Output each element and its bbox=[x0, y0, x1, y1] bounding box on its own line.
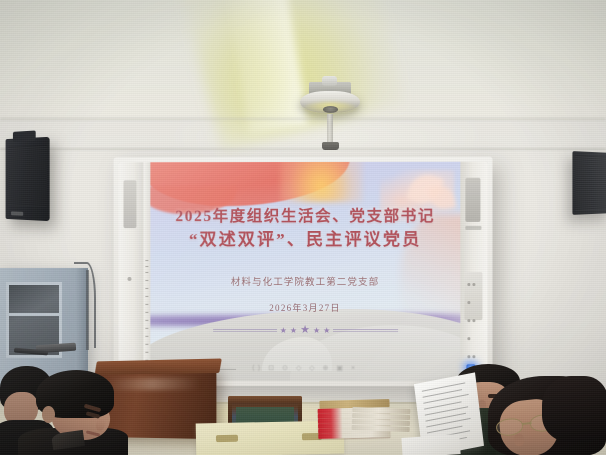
star-icon: ★ bbox=[280, 326, 287, 334]
printed-handout-secondary bbox=[401, 434, 460, 455]
keypad-button[interactable] bbox=[467, 319, 470, 322]
slide-organization: 材料与化工学院教工第二党支部 bbox=[231, 274, 379, 288]
ceiling-mounted-projector bbox=[300, 82, 360, 116]
speaker-grille bbox=[8, 145, 46, 206]
keypad-button[interactable] bbox=[467, 355, 470, 358]
attendee-left-front bbox=[22, 370, 142, 455]
hanging-cable bbox=[74, 262, 96, 348]
projector-pole-cap bbox=[322, 142, 339, 150]
hanging-cable-secondary bbox=[86, 270, 89, 350]
bezel-label bbox=[465, 226, 481, 230]
keypad-button[interactable] bbox=[472, 355, 475, 358]
slide-title-line-2: “双述双评”、民主评议党员 bbox=[175, 229, 435, 250]
person-nose bbox=[513, 434, 524, 447]
person-ear bbox=[42, 406, 55, 423]
star-icon: ★ bbox=[290, 326, 297, 334]
speaker-grille bbox=[575, 155, 606, 210]
speaker-bracket-icon bbox=[13, 130, 36, 141]
slide-text-block: 2025年度组织生活会、党支部书记 “双述双评”、民主评议党员 材料与化工学院教… bbox=[150, 162, 460, 382]
bezel-grille bbox=[465, 178, 480, 222]
divider-rule-right bbox=[333, 328, 397, 333]
slide-title: 2025年度组织生活会、党支部书记 “双述双评”、民主评议党员 bbox=[175, 206, 435, 250]
divider-rule-left bbox=[213, 328, 277, 333]
projector-mount-neck bbox=[322, 76, 337, 86]
bezel-sensor-icon bbox=[127, 277, 131, 281]
left-bezel-speaker-grille bbox=[119, 162, 144, 380]
screen-left-strip bbox=[143, 162, 150, 381]
wall-speaker-left bbox=[6, 137, 50, 221]
keypad-button[interactable] bbox=[472, 283, 475, 286]
whiteboard-inner: 2025年度组织生活会、党支部书记 “双述双评”、民主评议党员 材料与化工学院教… bbox=[119, 162, 488, 382]
keypad-button[interactable] bbox=[467, 301, 470, 304]
interactive-whiteboard[interactable]: 2025年度组织生活会、党支部书记 “双述双评”、民主评议党员 材料与化工学院教… bbox=[114, 157, 493, 387]
meeting-room-photo: 2025年度组织生活会、党支部书记 “双述双评”、民主评议党员 材料与化工学院教… bbox=[0, 0, 606, 455]
chair-top-rail bbox=[228, 396, 302, 403]
slide-date: 2026年3月27日 bbox=[269, 301, 341, 314]
document-marking bbox=[216, 435, 238, 442]
stacked-white-papers bbox=[351, 403, 410, 435]
star-icon-center: ★ bbox=[300, 325, 310, 336]
keypad-button[interactable] bbox=[467, 283, 470, 286]
bezel-grille bbox=[124, 180, 137, 228]
wall-seam bbox=[0, 148, 606, 150]
slide-star-divider: ★ ★ ★ ★ ★ bbox=[213, 325, 398, 336]
projected-slide: 2025年度组织生活会、党支部书记 “双述双评”、民主评议党员 材料与化工学院教… bbox=[150, 162, 460, 382]
person-hair-front bbox=[542, 376, 606, 442]
attendee-right-front bbox=[486, 378, 606, 455]
speaker-badge bbox=[11, 211, 23, 215]
projector-lens-icon bbox=[323, 106, 338, 113]
control-keypad[interactable] bbox=[464, 272, 482, 320]
ceiling-seam bbox=[0, 118, 606, 121]
star-icon: ★ bbox=[313, 327, 320, 335]
keypad-button[interactable] bbox=[467, 337, 470, 340]
slide-title-line-1: 2025年度组织生活会、党支部书记 bbox=[175, 208, 435, 225]
keypad-button[interactable] bbox=[472, 319, 475, 322]
right-bezel-control-panel[interactable] bbox=[460, 162, 487, 382]
star-icon: ★ bbox=[323, 327, 330, 335]
wall-speaker-right bbox=[572, 151, 606, 215]
